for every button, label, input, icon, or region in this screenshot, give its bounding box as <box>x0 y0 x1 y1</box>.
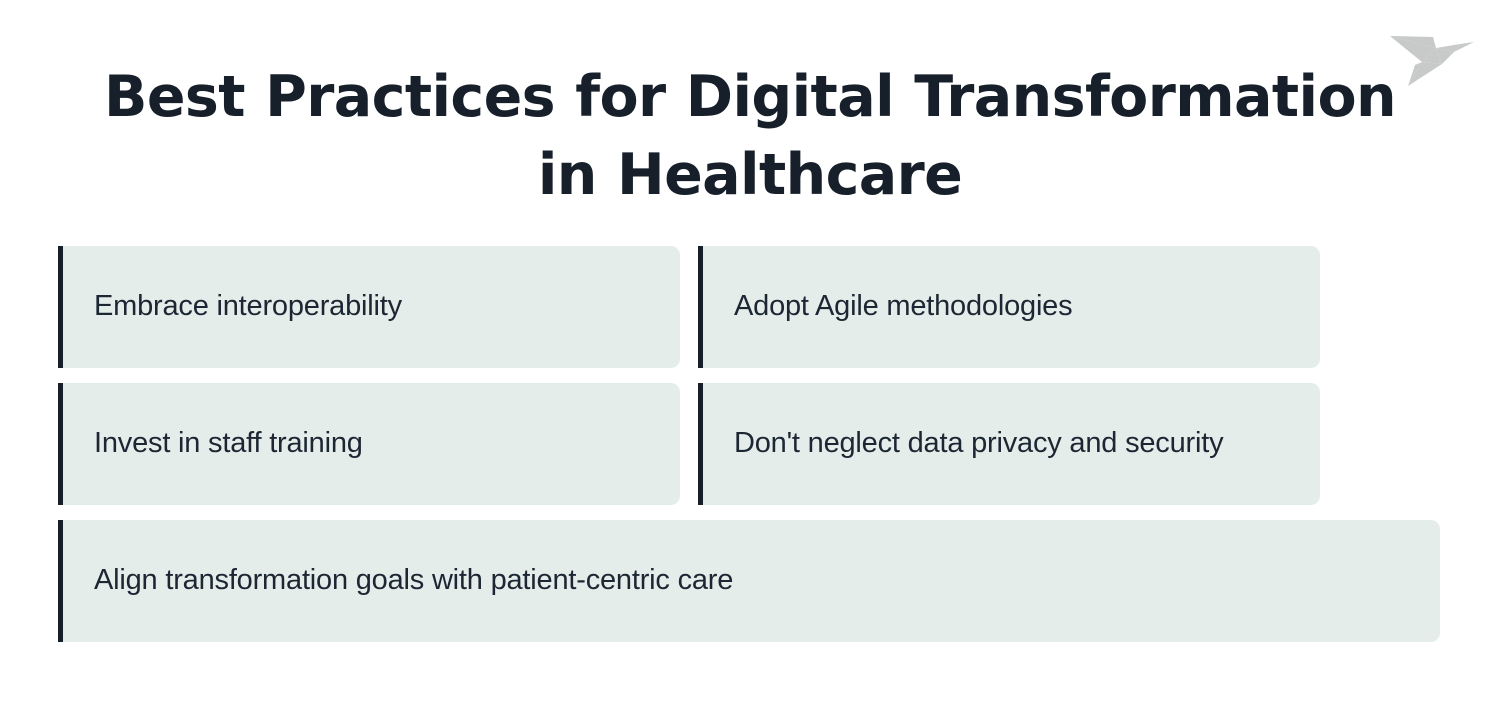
practice-card: Align transformation goals with patient-… <box>58 520 1440 642</box>
practice-card-label: Align transformation goals with patient-… <box>94 562 733 600</box>
practice-card-label: Don't neglect data privacy and security <box>734 425 1223 463</box>
practice-card: Invest in staff training <box>58 383 680 505</box>
page-title: Best Practices for Digital Transformatio… <box>90 58 1410 214</box>
practice-card-body: Adopt Agile methodologies <box>703 246 1320 368</box>
title-block: Best Practices for Digital Transformatio… <box>90 58 1410 214</box>
practice-card-body: Invest in staff training <box>63 383 680 505</box>
practices-card-grid: Embrace interoperability Adopt Agile met… <box>58 246 1440 642</box>
slide-canvas: Best Practices for Digital Transformatio… <box>0 0 1500 706</box>
practice-card-body: Don't neglect data privacy and security <box>703 383 1320 505</box>
practice-card: Embrace interoperability <box>58 246 680 368</box>
practice-card-label: Embrace interoperability <box>94 288 402 326</box>
practice-card-label: Adopt Agile methodologies <box>734 288 1072 326</box>
practice-card: Don't neglect data privacy and security <box>698 383 1320 505</box>
practice-card-body: Embrace interoperability <box>63 246 680 368</box>
practice-card-label: Invest in staff training <box>94 425 363 463</box>
practice-card-body: Align transformation goals with patient-… <box>63 520 1440 642</box>
practice-card: Adopt Agile methodologies <box>698 246 1320 368</box>
